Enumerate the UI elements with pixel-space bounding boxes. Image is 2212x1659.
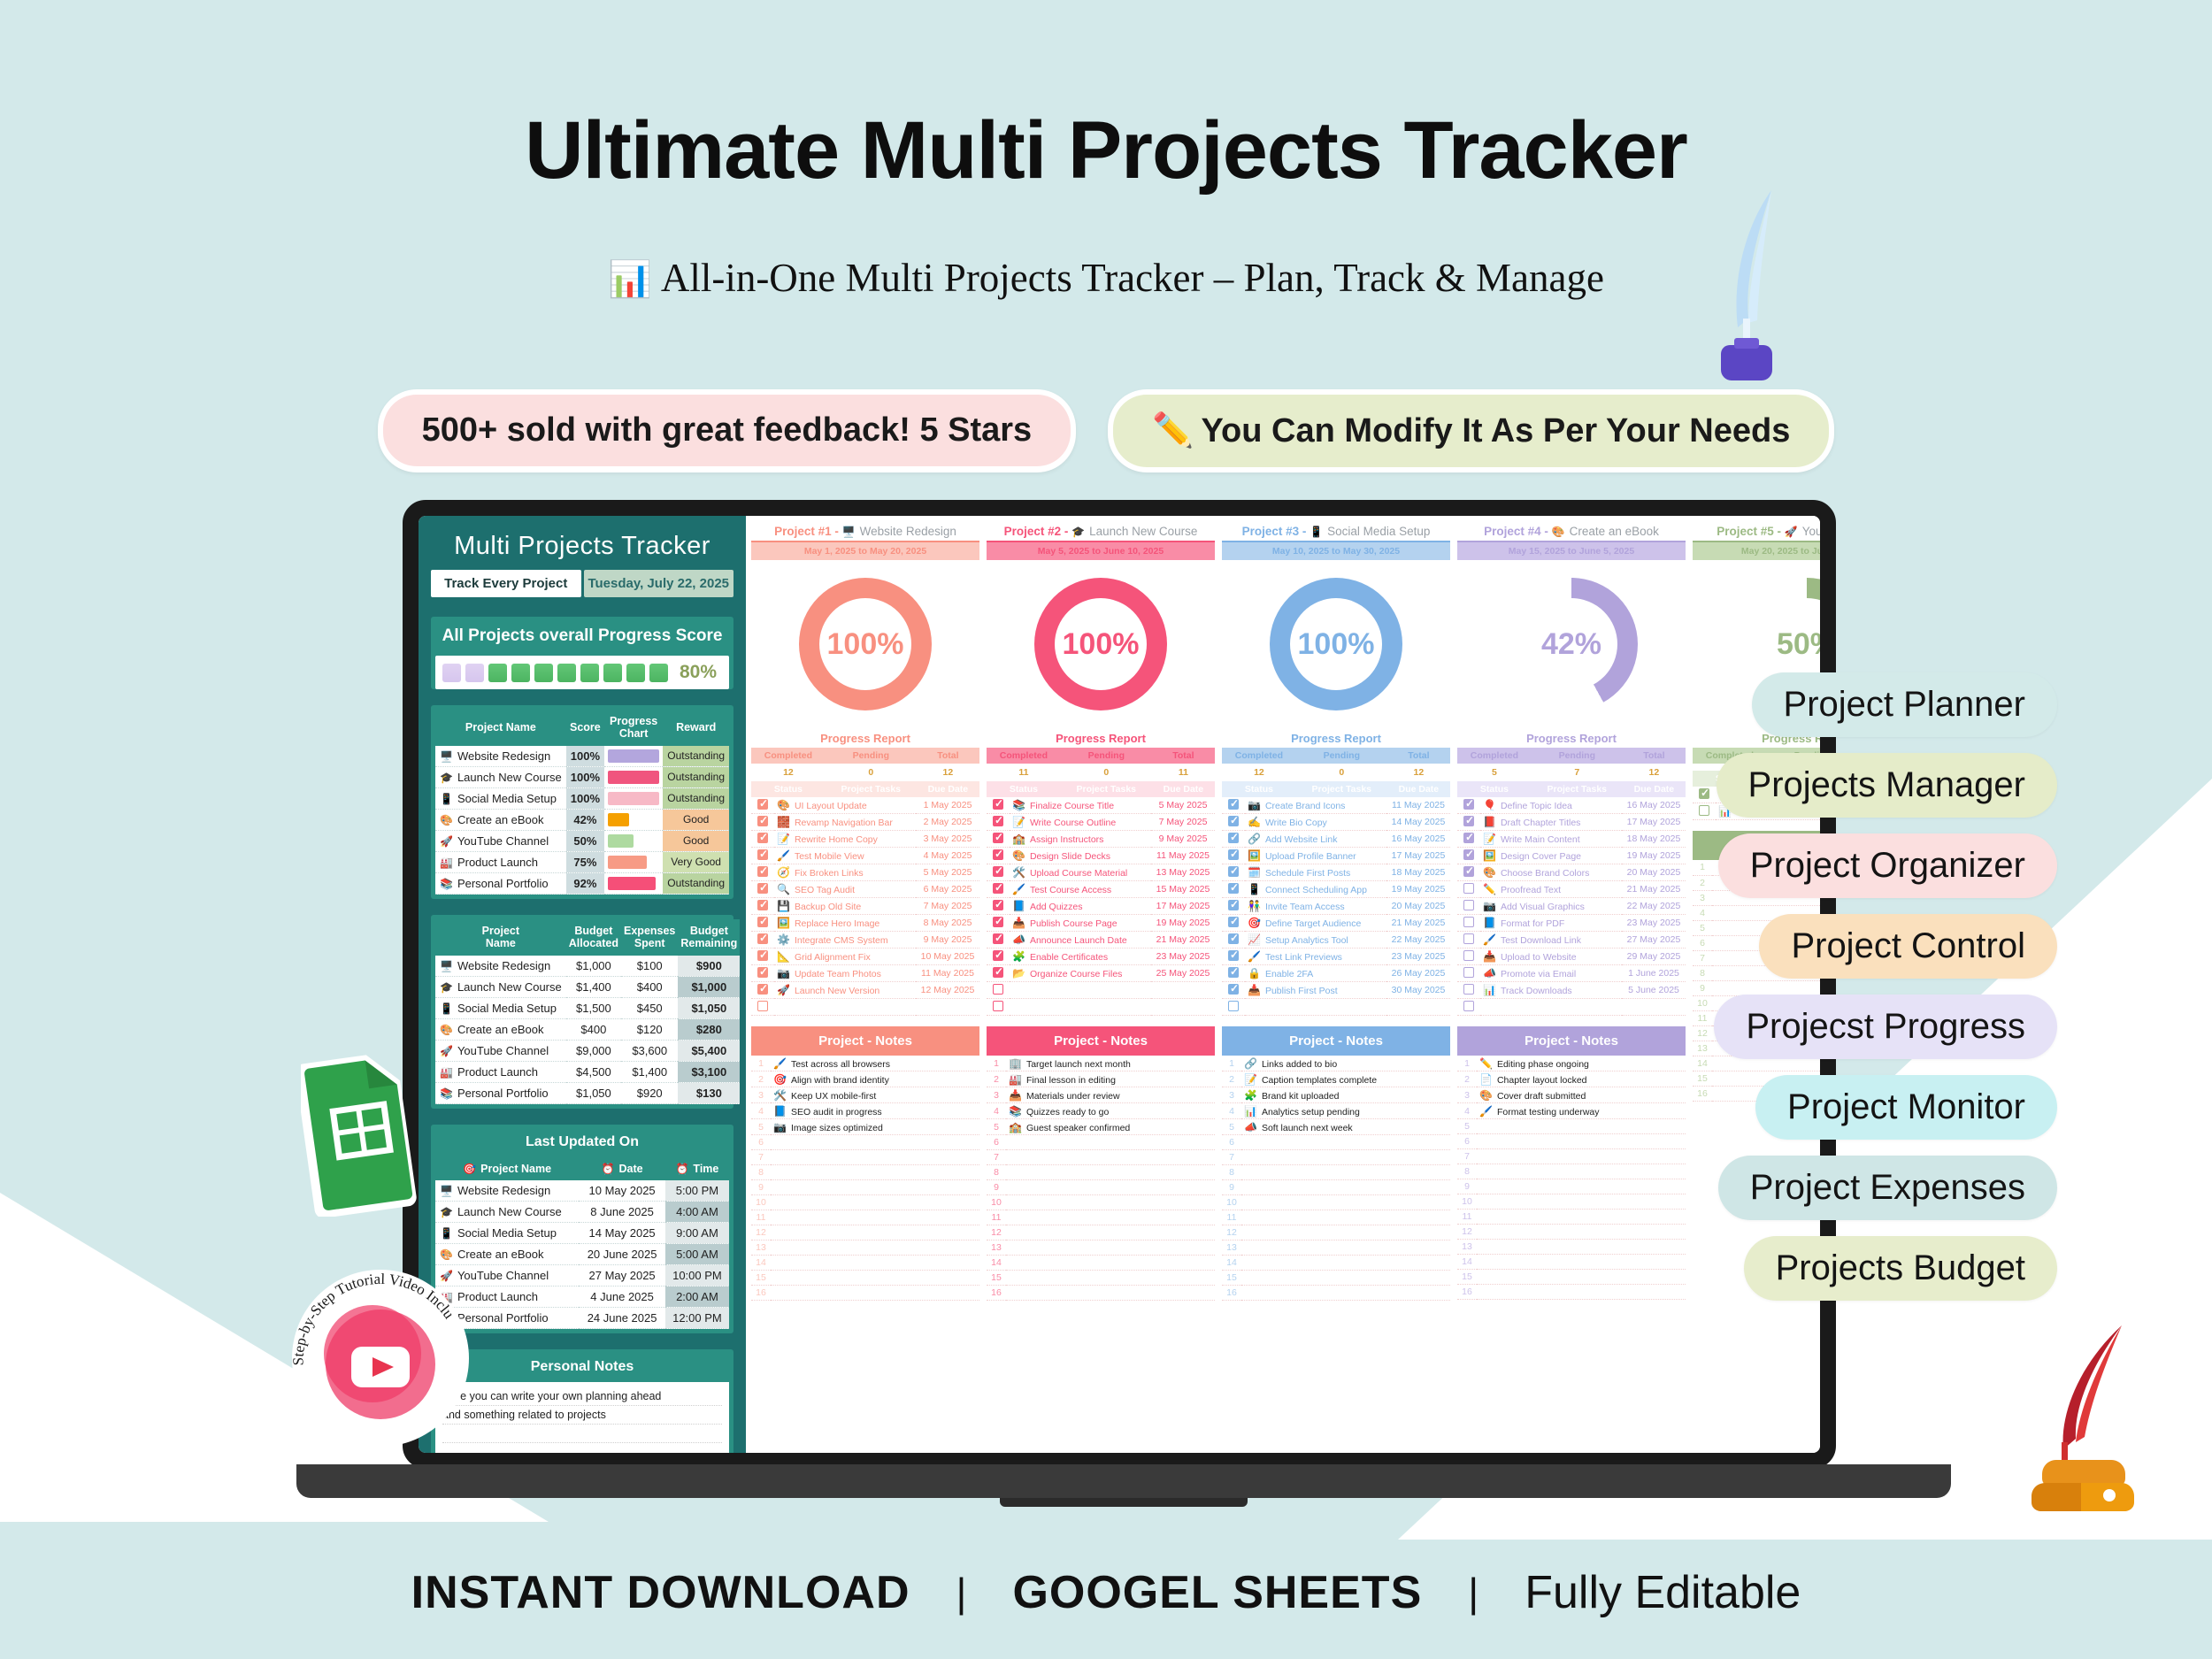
task-icon: 🎈 bbox=[1483, 799, 1496, 811]
note-number: 5 bbox=[1693, 920, 1712, 935]
report-header: Total bbox=[917, 748, 979, 764]
task-status-cell[interactable] bbox=[1222, 831, 1245, 848]
task-checkbox[interactable] bbox=[993, 816, 1003, 826]
project-date-range: May 15, 2025 to June 5, 2025 bbox=[1457, 541, 1686, 560]
note-number: 10 bbox=[1693, 995, 1712, 1010]
task-row: 📷Update Team Photos11 May 2025 bbox=[751, 965, 979, 982]
score-cell: 100% bbox=[566, 787, 604, 809]
task-checkbox[interactable] bbox=[1463, 900, 1474, 910]
note-text-cell[interactable] bbox=[1241, 1150, 1450, 1165]
task-checkbox[interactable] bbox=[993, 833, 1003, 843]
feature-pill-4[interactable]: Project Control bbox=[1759, 914, 2057, 979]
note-row: 5📣Soft launch next week bbox=[1222, 1119, 1450, 1135]
note-text-cell[interactable] bbox=[1241, 1256, 1450, 1271]
note-row: 3🛠️Keep UX mobile-first bbox=[751, 1087, 979, 1103]
task-status-cell[interactable] bbox=[1222, 864, 1245, 881]
table-row: 📱Social Media Setup$1,500$450$1,050 bbox=[435, 997, 740, 1018]
note-number: 8 bbox=[1693, 965, 1712, 980]
project-name: Product Launch bbox=[457, 1065, 538, 1079]
task-checkbox[interactable] bbox=[993, 950, 1003, 961]
task-checkbox[interactable] bbox=[1228, 900, 1239, 910]
donut-chart: 42% bbox=[1505, 578, 1638, 710]
personal-note-line[interactable]: Here you can write your own planning ahe… bbox=[442, 1387, 722, 1406]
task-checkbox[interactable] bbox=[1463, 883, 1474, 894]
task-icon: 🔗 bbox=[1248, 833, 1261, 845]
task-checkbox[interactable] bbox=[1699, 788, 1709, 799]
note-text-cell[interactable] bbox=[1477, 1134, 1686, 1149]
task-checkbox[interactable] bbox=[993, 1001, 1003, 1011]
task-checkbox[interactable] bbox=[757, 866, 768, 877]
task-status-cell[interactable] bbox=[751, 999, 774, 1016]
report-header: Completed bbox=[1222, 748, 1296, 764]
task-checkbox[interactable] bbox=[993, 917, 1003, 927]
note-text-cell[interactable] bbox=[1006, 1286, 1215, 1301]
note-text-cell[interactable]: 📘SEO audit in progress bbox=[771, 1103, 979, 1119]
task-name-cell: 📝Rewrite Home Copy bbox=[774, 831, 916, 848]
note-number: 4 bbox=[1693, 905, 1712, 920]
task-status-cell[interactable] bbox=[1457, 864, 1480, 881]
note-text-cell[interactable]: 🎨Cover draft submitted bbox=[1477, 1087, 1686, 1103]
note-number: 15 bbox=[987, 1271, 1006, 1286]
task-checkbox[interactable] bbox=[993, 900, 1003, 910]
task-checkbox[interactable] bbox=[993, 967, 1003, 978]
task-status-cell[interactable] bbox=[1457, 982, 1480, 999]
task-status-cell[interactable] bbox=[987, 848, 1010, 864]
feature-pill-8[interactable]: Projects Budget bbox=[1744, 1236, 2057, 1301]
report-value: 12 bbox=[917, 764, 979, 781]
task-status-cell[interactable] bbox=[1457, 898, 1480, 915]
task-status-cell[interactable] bbox=[751, 831, 774, 848]
note-row: 10 bbox=[987, 1195, 1215, 1210]
task-checkbox[interactable] bbox=[1463, 849, 1474, 860]
note-text-cell[interactable] bbox=[1006, 1210, 1215, 1225]
note-row: 14 bbox=[1457, 1255, 1686, 1270]
report-header: Pending bbox=[1296, 748, 1387, 764]
task-checkbox[interactable] bbox=[1463, 799, 1474, 810]
task-checkbox[interactable] bbox=[757, 917, 768, 927]
note-text-cell[interactable]: 🔗Links added to bio bbox=[1241, 1056, 1450, 1071]
task-status-cell[interactable] bbox=[1222, 999, 1245, 1016]
note-text-cell[interactable] bbox=[1477, 1210, 1686, 1225]
note-text-cell[interactable] bbox=[1241, 1195, 1450, 1210]
task-status-cell[interactable] bbox=[987, 949, 1010, 965]
task-status-cell[interactable] bbox=[1457, 932, 1480, 949]
table-row: 🚀YouTube Channel50%Good bbox=[435, 830, 729, 851]
note-row: 7 bbox=[1457, 1149, 1686, 1164]
task-checkbox[interactable] bbox=[1463, 917, 1474, 927]
task-status-cell[interactable] bbox=[1457, 999, 1480, 1016]
feature-pill-1[interactable]: Project Planner bbox=[1752, 672, 2057, 737]
task-header: Status bbox=[1222, 781, 1296, 797]
task-status-cell[interactable] bbox=[1222, 898, 1245, 915]
note-text-cell[interactable]: 🏫Guest speaker confirmed bbox=[1006, 1119, 1215, 1135]
project-label: Project #4 - bbox=[1484, 525, 1552, 538]
note-text-cell[interactable]: 🏢Target launch next month bbox=[1006, 1056, 1215, 1071]
task-name: Choose Brand Colors bbox=[1501, 868, 1589, 879]
task-checkbox[interactable] bbox=[1228, 1001, 1239, 1011]
note-text-cell[interactable] bbox=[1241, 1286, 1450, 1301]
note-text-cell[interactable]: 📚Quizzes ready to go bbox=[1006, 1103, 1215, 1119]
task-status-cell[interactable] bbox=[987, 965, 1010, 982]
task-status-cell[interactable] bbox=[987, 999, 1010, 1016]
score-square bbox=[442, 664, 461, 682]
task-name-cell: 🎈Define Topic Idea bbox=[1480, 797, 1622, 814]
note-text-cell[interactable] bbox=[771, 1271, 979, 1286]
project-name-cell: 🖥️Website Redesign bbox=[435, 956, 566, 977]
report-header: Pending bbox=[1532, 748, 1623, 764]
project-column-2: Project #2 - 🎓Launch New CourseMay 5, 20… bbox=[987, 523, 1215, 1301]
task-name: Assign Instructors bbox=[1030, 834, 1103, 845]
note-text-cell[interactable] bbox=[771, 1210, 979, 1225]
note-number: 14 bbox=[1693, 1056, 1712, 1071]
task-status-cell[interactable] bbox=[1222, 848, 1245, 864]
task-checkbox[interactable] bbox=[1463, 816, 1474, 826]
task-status-cell[interactable] bbox=[1457, 831, 1480, 848]
budget-remaining-cell: $130 bbox=[678, 1082, 740, 1103]
task-status-cell[interactable] bbox=[751, 814, 774, 831]
task-checkbox[interactable] bbox=[993, 799, 1003, 810]
project-name-cell: 🎨Create an eBook bbox=[435, 1244, 579, 1265]
task-icon: ⚙️ bbox=[777, 933, 790, 946]
task-checkbox[interactable] bbox=[1463, 833, 1474, 843]
task-checkbox[interactable] bbox=[1699, 805, 1709, 816]
note-row: 11 bbox=[987, 1210, 1215, 1225]
progress-bar-cell bbox=[604, 872, 663, 894]
budget-remaining-cell: $3,100 bbox=[678, 1061, 740, 1082]
task-checkbox[interactable] bbox=[1228, 883, 1239, 894]
task-list-table: 📚Finalize Course Title5 May 2025📝Write C… bbox=[987, 797, 1215, 1016]
budget-remaining-cell: $1,050 bbox=[678, 997, 740, 1018]
task-name: Design Cover Page bbox=[1501, 851, 1581, 862]
note-text-cell[interactable]: 📊Analytics setup pending bbox=[1241, 1103, 1450, 1119]
project-name-cell: 🖥️Website Redesign bbox=[435, 746, 566, 767]
task-status-cell[interactable] bbox=[987, 864, 1010, 881]
project-notes-table: 1🖌️Test across all browsers2🎯Align with … bbox=[751, 1056, 979, 1301]
task-status-cell[interactable] bbox=[751, 965, 774, 982]
task-name-cell: 🎨UI Layout Update bbox=[774, 797, 916, 814]
feature-pill-7[interactable]: Project Expenses bbox=[1718, 1156, 2057, 1220]
task-checkbox[interactable] bbox=[1463, 967, 1474, 978]
task-status-cell[interactable] bbox=[987, 932, 1010, 949]
note-text-cell[interactable] bbox=[1241, 1135, 1450, 1150]
task-due-date: 20 May 2025 bbox=[1622, 864, 1686, 881]
task-checkbox[interactable] bbox=[1228, 933, 1239, 944]
expenses-spent-cell: $120 bbox=[621, 1018, 678, 1040]
personal-notes-area[interactable]: Here you can write your own planning ahe… bbox=[435, 1382, 729, 1453]
task-status-cell[interactable] bbox=[987, 898, 1010, 915]
feature-pill-2[interactable]: Projects Manager bbox=[1717, 753, 2057, 818]
badge-sold: 500+ sold with great feedback! 5 Stars bbox=[378, 389, 1077, 472]
note-text-cell[interactable]: 🧩Brand kit uploaded bbox=[1241, 1087, 1450, 1103]
progress-bar bbox=[608, 771, 659, 784]
task-row: 🎈Define Topic Idea16 May 2025 bbox=[1457, 797, 1686, 814]
task-name-cell: 🧱Revamp Navigation Bar bbox=[774, 814, 916, 831]
task-status-cell[interactable] bbox=[987, 831, 1010, 848]
note-text-cell[interactable] bbox=[1477, 1240, 1686, 1255]
task-status-cell[interactable] bbox=[1222, 932, 1245, 949]
task-checkbox[interactable] bbox=[757, 883, 768, 894]
feature-pill-6[interactable]: Project Monitor bbox=[1755, 1075, 2057, 1140]
note-text-cell[interactable] bbox=[1006, 1225, 1215, 1240]
note-text-cell[interactable] bbox=[1477, 1149, 1686, 1164]
task-name-cell: 👫Invite Team Access bbox=[1245, 898, 1386, 915]
note-text-cell[interactable] bbox=[1006, 1135, 1215, 1150]
task-checkbox[interactable] bbox=[1463, 950, 1474, 961]
header-label: Date bbox=[619, 1163, 643, 1175]
feature-pill-3[interactable]: Project Organizer bbox=[1718, 833, 2057, 898]
task-checkbox[interactable] bbox=[993, 933, 1003, 944]
task-status-cell[interactable] bbox=[751, 982, 774, 999]
task-checkbox[interactable] bbox=[1463, 1001, 1474, 1011]
header-icon: ⏰ bbox=[675, 1163, 688, 1175]
task-status-cell[interactable] bbox=[751, 797, 774, 814]
note-text-cell[interactable] bbox=[1006, 1150, 1215, 1165]
note-row: 2🎯Align with brand identity bbox=[751, 1071, 979, 1087]
task-status-cell[interactable] bbox=[1222, 915, 1245, 932]
feature-pill-5[interactable]: Projecst Progress bbox=[1714, 995, 2057, 1059]
task-name-cell: 🖼️Upload Profile Banner bbox=[1245, 848, 1386, 864]
note-text-cell[interactable]: 🖌️Format testing underway bbox=[1477, 1103, 1686, 1119]
task-checkbox[interactable] bbox=[757, 1001, 768, 1011]
donut-chart-wrap: 100% bbox=[751, 560, 979, 728]
task-status-cell[interactable] bbox=[1693, 787, 1716, 803]
task-icon: 🧭 bbox=[777, 866, 790, 879]
task-checkbox[interactable] bbox=[757, 849, 768, 860]
task-checkbox[interactable] bbox=[993, 984, 1003, 995]
note-text-cell[interactable] bbox=[1006, 1180, 1215, 1195]
task-checkbox[interactable] bbox=[1463, 984, 1474, 995]
task-status-cell[interactable] bbox=[751, 932, 774, 949]
task-status-cell[interactable] bbox=[751, 949, 774, 965]
task-name: Write Bio Copy bbox=[1265, 818, 1327, 828]
task-row bbox=[987, 999, 1215, 1016]
note-text-cell[interactable]: 🏭Final lesson in editing bbox=[1006, 1071, 1215, 1087]
note-text-cell[interactable] bbox=[1477, 1119, 1686, 1134]
note-text-cell[interactable] bbox=[771, 1150, 979, 1165]
task-name-cell: 📷Update Team Photos bbox=[774, 965, 916, 982]
task-checkbox[interactable] bbox=[1228, 950, 1239, 961]
note-text-cell[interactable] bbox=[771, 1256, 979, 1271]
task-due-date: 23 May 2025 bbox=[1622, 915, 1686, 932]
note-text-cell[interactable] bbox=[1006, 1195, 1215, 1210]
project-name-cell: 🎨Create an eBook bbox=[435, 1018, 566, 1040]
note-number: 11 bbox=[1222, 1210, 1241, 1225]
task-name: Proofread Text bbox=[1501, 885, 1561, 895]
task-checkbox[interactable] bbox=[1228, 967, 1239, 978]
task-status-cell[interactable] bbox=[1222, 982, 1245, 999]
task-name: Write Course Outline bbox=[1030, 818, 1116, 828]
note-text: Materials under review bbox=[1026, 1091, 1120, 1102]
note-text-cell[interactable] bbox=[771, 1240, 979, 1256]
note-text-cell[interactable]: 📝Caption templates complete bbox=[1241, 1071, 1450, 1087]
task-due-date: 29 May 2025 bbox=[1622, 949, 1686, 965]
project-date-range: May 10, 2025 to May 30, 2025 bbox=[1222, 541, 1450, 560]
task-checkbox[interactable] bbox=[993, 866, 1003, 877]
task-status-cell[interactable] bbox=[987, 881, 1010, 898]
task-status-cell[interactable] bbox=[1457, 915, 1480, 932]
note-text-cell[interactable] bbox=[1241, 1210, 1450, 1225]
task-status-cell[interactable] bbox=[1693, 803, 1716, 820]
task-name-cell: 📘Add Quizzes bbox=[1010, 898, 1151, 915]
task-status-cell[interactable] bbox=[1457, 965, 1480, 982]
note-text-cell[interactable]: 📄Chapter layout locked bbox=[1477, 1071, 1686, 1087]
task-status-cell[interactable] bbox=[1222, 965, 1245, 982]
personal-note-line[interactable] bbox=[442, 1425, 722, 1443]
note-text-cell[interactable]: 📷Image sizes optimized bbox=[771, 1119, 979, 1135]
task-icon: 📷 bbox=[1483, 900, 1496, 912]
task-checkbox[interactable] bbox=[1228, 917, 1239, 927]
table-row: 🏭Product Launch75%Very Good bbox=[435, 851, 729, 872]
note-text-cell[interactable]: 🎯Align with brand identity bbox=[771, 1071, 979, 1087]
task-row bbox=[751, 999, 979, 1016]
task-due-date: 22 May 2025 bbox=[1386, 932, 1450, 949]
task-name: Define Target Audience bbox=[1265, 918, 1361, 929]
note-text-cell[interactable] bbox=[1241, 1180, 1450, 1195]
task-status-cell[interactable] bbox=[987, 982, 1010, 999]
time-cell: 2:00 AM bbox=[665, 1286, 729, 1308]
task-due-date: 14 May 2025 bbox=[1386, 814, 1450, 831]
note-text-cell[interactable] bbox=[1477, 1194, 1686, 1210]
note-number: 3 bbox=[751, 1087, 771, 1103]
task-status-cell[interactable] bbox=[1457, 848, 1480, 864]
note-text-cell[interactable] bbox=[1477, 1285, 1686, 1300]
task-status-cell[interactable] bbox=[1457, 949, 1480, 965]
task-checkbox[interactable] bbox=[1228, 799, 1239, 810]
project-name-cell: 🚀YouTube Channel bbox=[435, 830, 566, 851]
note-icon: 🖌️ bbox=[773, 1057, 787, 1070]
note-text-cell[interactable] bbox=[1477, 1255, 1686, 1270]
task-checkbox[interactable] bbox=[757, 950, 768, 961]
task-status-cell[interactable] bbox=[987, 814, 1010, 831]
task-status-cell[interactable] bbox=[987, 915, 1010, 932]
task-status-cell[interactable] bbox=[1457, 881, 1480, 898]
note-text-cell[interactable]: 🖌️Test across all browsers bbox=[771, 1056, 979, 1071]
task-name: Design Slide Decks bbox=[1030, 851, 1110, 862]
note-text-cell[interactable] bbox=[771, 1286, 979, 1301]
badge-sold-label: 500+ sold with great feedback! 5 Stars bbox=[383, 395, 1071, 466]
budget-table-wrap: ProjectNameBudgetAllocatedExpensesSpentB… bbox=[431, 915, 733, 1109]
task-status-cell[interactable] bbox=[751, 864, 774, 881]
note-text-cell[interactable] bbox=[1241, 1240, 1450, 1256]
spreadsheet-screen[interactable]: Multi Projects Tracker Track Every Proje… bbox=[419, 516, 1820, 1453]
task-checkbox[interactable] bbox=[993, 849, 1003, 860]
project-icon: 🚀 bbox=[440, 835, 453, 848]
task-status-cell[interactable] bbox=[1457, 814, 1480, 831]
progress-report-title: Progress Report bbox=[987, 728, 1215, 748]
task-checkbox[interactable] bbox=[1228, 984, 1239, 995]
note-icon: 📷 bbox=[773, 1121, 787, 1133]
note-text-cell[interactable] bbox=[1006, 1240, 1215, 1256]
project-notes-header: Project - Notes bbox=[1457, 1026, 1686, 1056]
note-number: 9 bbox=[1457, 1179, 1477, 1194]
note-text-cell[interactable] bbox=[1241, 1271, 1450, 1286]
note-text-cell[interactable] bbox=[1477, 1270, 1686, 1285]
task-status-cell[interactable] bbox=[1222, 814, 1245, 831]
budget-remaining-cell: $5,400 bbox=[678, 1040, 740, 1061]
note-text-cell[interactable] bbox=[1241, 1225, 1450, 1240]
task-checkbox[interactable] bbox=[757, 933, 768, 944]
task-checkbox[interactable] bbox=[1228, 849, 1239, 860]
task-checkbox[interactable] bbox=[1228, 833, 1239, 843]
note-text-cell[interactable] bbox=[1477, 1164, 1686, 1179]
note-row: 5🏫Guest speaker confirmed bbox=[987, 1119, 1215, 1135]
note-text-cell[interactable] bbox=[771, 1195, 979, 1210]
task-checkbox[interactable] bbox=[757, 816, 768, 826]
project-notes-table: 1✏️Editing phase ongoing2📄Chapter layout… bbox=[1457, 1056, 1686, 1300]
note-text-cell[interactable] bbox=[1477, 1225, 1686, 1240]
note-text-cell[interactable] bbox=[1006, 1165, 1215, 1180]
task-due-date: 27 May 2025 bbox=[1622, 932, 1686, 949]
task-checkbox[interactable] bbox=[757, 900, 768, 910]
task-name-cell: 📷Add Visual Graphics bbox=[1480, 898, 1622, 915]
task-status-cell[interactable] bbox=[751, 881, 774, 898]
personal-note-line[interactable] bbox=[442, 1443, 722, 1453]
note-row: 2📄Chapter layout locked bbox=[1457, 1071, 1686, 1087]
note-text-cell[interactable]: ✏️Editing phase ongoing bbox=[1477, 1056, 1686, 1071]
task-checkbox[interactable] bbox=[757, 967, 768, 978]
task-name: Add Website Link bbox=[1265, 834, 1338, 845]
task-checkbox[interactable] bbox=[1463, 933, 1474, 944]
task-status-cell[interactable] bbox=[751, 848, 774, 864]
task-name-cell: 📕Draft Chapter Titles bbox=[1480, 814, 1622, 831]
note-text-cell[interactable]: 📥Materials under review bbox=[1006, 1087, 1215, 1103]
reward-cell: Outstanding bbox=[663, 746, 729, 767]
task-row: 🖌️Test Mobile View4 May 2025 bbox=[751, 848, 979, 864]
note-text: Target launch next month bbox=[1026, 1059, 1131, 1070]
note-row: 2🏭Final lesson in editing bbox=[987, 1071, 1215, 1087]
task-checkbox[interactable] bbox=[1228, 816, 1239, 826]
task-checkbox[interactable] bbox=[757, 833, 768, 843]
project-name: Product Launch bbox=[457, 856, 538, 869]
task-checkbox[interactable] bbox=[757, 984, 768, 995]
task-checkbox[interactable] bbox=[1228, 866, 1239, 877]
report-header: Total bbox=[1387, 748, 1450, 764]
task-status-cell[interactable] bbox=[751, 898, 774, 915]
note-text-cell[interactable] bbox=[1241, 1165, 1450, 1180]
note-text-cell[interactable] bbox=[1006, 1256, 1215, 1271]
project-icon: 📚 bbox=[440, 1087, 453, 1100]
task-checkbox[interactable] bbox=[1463, 866, 1474, 877]
badge-modify-label: You Can Modify It As Per Your Needs bbox=[1202, 412, 1791, 449]
note-text-cell[interactable]: 📣Soft launch next week bbox=[1241, 1119, 1450, 1135]
reward-cell: Outstanding bbox=[663, 787, 729, 809]
task-status-cell[interactable] bbox=[1222, 797, 1245, 814]
task-name-cell: 🎨Design Slide Decks bbox=[1010, 848, 1151, 864]
personal-note-line[interactable]: and something related to projects bbox=[442, 1406, 722, 1425]
note-text-cell[interactable] bbox=[771, 1180, 979, 1195]
note-text-cell[interactable] bbox=[771, 1165, 979, 1180]
note-number: 10 bbox=[1222, 1195, 1241, 1210]
project-name: Create an eBook bbox=[457, 813, 544, 826]
project-icon: 🏭 bbox=[440, 1066, 453, 1079]
reward-cell: Very Good bbox=[663, 851, 729, 872]
note-text-cell[interactable] bbox=[1477, 1179, 1686, 1194]
task-status-cell[interactable] bbox=[1457, 797, 1480, 814]
note-text-cell[interactable]: 🛠️Keep UX mobile-first bbox=[771, 1087, 979, 1103]
note-text-cell[interactable] bbox=[771, 1135, 979, 1150]
task-checkbox[interactable] bbox=[757, 799, 768, 810]
task-status-cell[interactable] bbox=[987, 797, 1010, 814]
task-status-cell[interactable] bbox=[1222, 881, 1245, 898]
note-number: 13 bbox=[1693, 1041, 1712, 1056]
task-status-cell[interactable] bbox=[1222, 949, 1245, 965]
score-square bbox=[580, 664, 599, 682]
note-text-cell[interactable] bbox=[1006, 1271, 1215, 1286]
note-number: 8 bbox=[1222, 1165, 1241, 1180]
task-checkbox[interactable] bbox=[993, 883, 1003, 894]
note-text-cell[interactable] bbox=[771, 1225, 979, 1240]
task-status-cell[interactable] bbox=[751, 915, 774, 932]
